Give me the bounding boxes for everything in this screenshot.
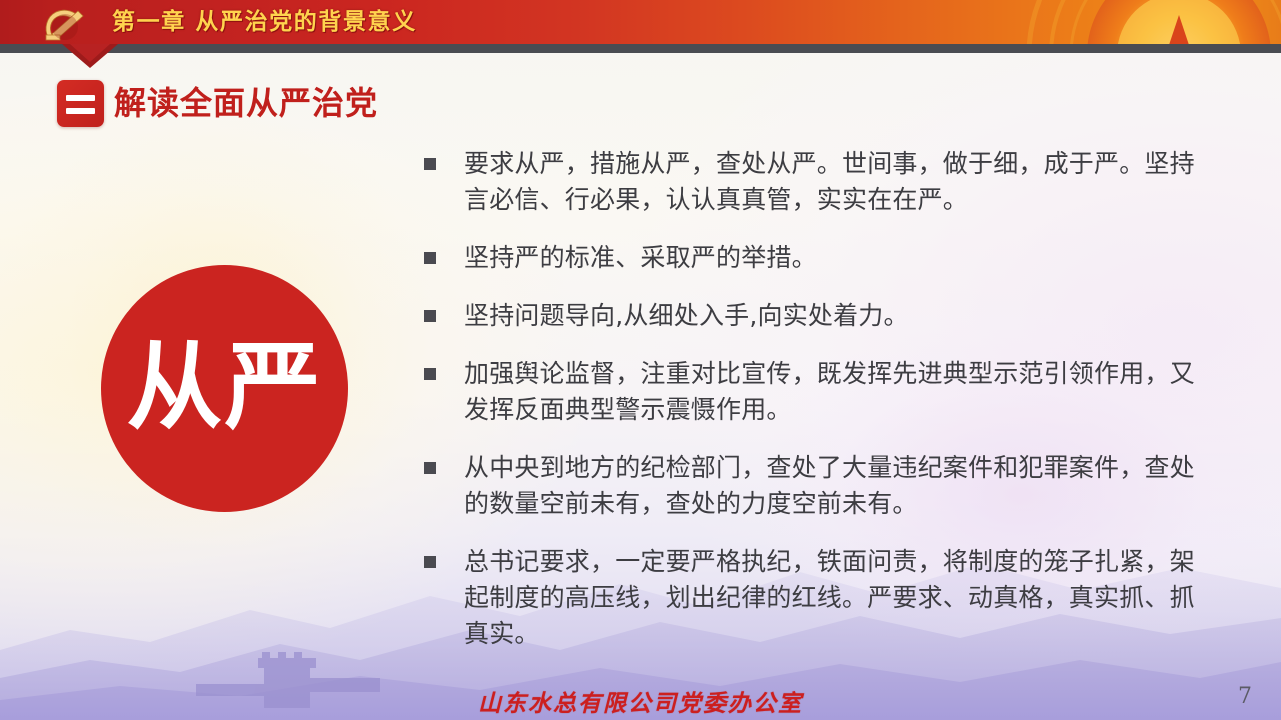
list-item-text: 坚持问题导向,从细处入手,向实处着力。: [464, 301, 909, 330]
square-bullet-icon: [424, 158, 436, 170]
list-item-text: 加强舆论监督，注重对比宣传，既发挥先进典型示范引领作用，又发挥反面典型警示震慑作…: [464, 359, 1195, 424]
star-burst-icon: [1001, 0, 1281, 44]
badge-stroke-top: [66, 95, 95, 101]
emblem-circle-label: 从严: [127, 337, 323, 437]
bullet-list: 要求从严，措施从严，查处从严。世间事，做于细，成于严。坚持言必信、行必果，认认真…: [420, 146, 1210, 674]
footer-organization: 山东水总有限公司党委办公室: [0, 684, 1281, 718]
square-bullet-icon: [424, 310, 436, 322]
list-item-text: 坚持严的标准、采取严的举措。: [464, 243, 817, 272]
slide-root: 第一章 从严治党的背景意义 解读全面从严治党 从严 要求从严，措施从严，查处从严…: [0, 0, 1281, 720]
section-tab-arrow-inner: [70, 44, 110, 62]
chapter-title: 第一章 从严治党的背景意义: [112, 7, 417, 37]
list-item-text: 总书记要求，一定要严格执纪，铁面问责，将制度的笼子扎紧，架起制度的高压线，划出纪…: [464, 547, 1195, 648]
list-item: 要求从严，措施从严，查处从严。世间事，做于细，成于严。坚持言必信、行必果，认认真…: [420, 146, 1210, 218]
section-number-badge: [57, 80, 104, 127]
list-item-text: 要求从严，措施从严，查处从严。世间事，做于细，成于严。坚持言必信、行必果，认认真…: [464, 149, 1195, 214]
emblem-circle: 从严: [101, 265, 348, 512]
square-bullet-icon: [424, 252, 436, 264]
chapter-banner: 第一章 从严治党的背景意义: [0, 0, 1281, 44]
section-title: 解读全面从严治党: [114, 82, 378, 124]
badge-stroke-bottom: [66, 108, 95, 114]
list-item: 坚持严的标准、采取严的举措。: [420, 240, 1210, 276]
list-item: 加强舆论监督，注重对比宣传，既发挥先进典型示范引领作用，又发挥反面典型警示震慑作…: [420, 356, 1210, 428]
list-item: 从中央到地方的纪检部门，查处了大量违纪案件和犯罪案件，查处的数量空前未有，查处的…: [420, 450, 1210, 522]
hammer-sickle-icon: [34, 1, 100, 44]
square-bullet-icon: [424, 556, 436, 568]
banner-underline: [0, 44, 1281, 53]
square-bullet-icon: [424, 462, 436, 474]
list-item: 坚持问题导向,从细处入手,向实处着力。: [420, 298, 1210, 334]
page-number: 7: [1238, 684, 1252, 709]
square-bullet-icon: [424, 368, 436, 380]
list-item-text: 从中央到地方的纪检部门，查处了大量违纪案件和犯罪案件，查处的数量空前未有，查处的…: [464, 453, 1195, 518]
list-item: 总书记要求，一定要严格执纪，铁面问责，将制度的笼子扎紧，架起制度的高压线，划出纪…: [420, 544, 1210, 652]
